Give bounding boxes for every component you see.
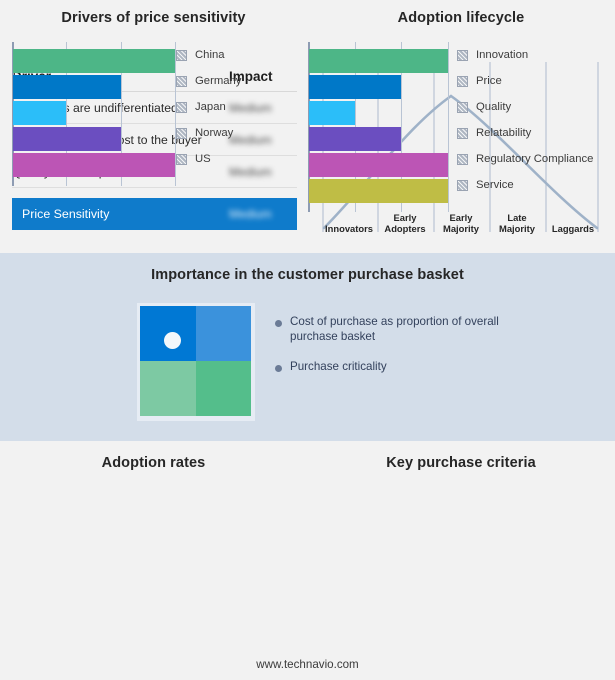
basket-panel-title: Importance in the customer purchase bask…: [0, 267, 615, 283]
legend-item-label: Cost of purchase as proportion of overal…: [290, 315, 540, 344]
driver-label: Price Sensitivity: [22, 207, 229, 221]
legend-item[interactable]: Price: [457, 68, 593, 94]
legend-item[interactable]: Quality: [457, 94, 593, 120]
legend-item[interactable]: China: [176, 42, 241, 68]
adoption-rates-panel: Adoption rates: [0, 441, 307, 680]
bar-price[interactable]: [309, 75, 401, 99]
bar-japan[interactable]: [13, 101, 66, 125]
drivers-panel-title: Drivers of price sensitivity: [0, 10, 307, 26]
legend-item-label: Purchase criticality: [290, 360, 387, 375]
legend-item-label: Service: [476, 179, 514, 191]
legend-swatch-icon: [457, 154, 468, 165]
key-purchase-criteria-title: Key purchase criteria: [307, 455, 615, 471]
bar-row: [12, 101, 175, 125]
key-purchase-criteria-plot: [308, 42, 448, 212]
bar-us[interactable]: [13, 153, 175, 177]
legend-item-label: Regulatory Compliance: [476, 153, 593, 165]
legend-item[interactable]: Innovation: [457, 42, 593, 68]
adoption-rates-chart: [12, 42, 175, 186]
bullet-dot-icon: [275, 320, 282, 327]
adoption-rates-legend: ChinaGermanyJapanNorwayUS: [176, 42, 241, 172]
legend-item-label: Germany: [195, 75, 241, 87]
adoption-rates-plot: [12, 42, 175, 186]
bar-row: [12, 75, 175, 99]
legend-item[interactable]: US: [176, 146, 241, 172]
legend-item-label: Innovation: [476, 49, 528, 61]
quadrant-bottom-right[interactable]: [196, 361, 252, 416]
impact-redacted-text: Medium: [229, 207, 272, 221]
key-purchase-criteria-chart: [308, 42, 448, 212]
quadrant-matrix-frame: [137, 303, 255, 421]
basket-legend: Cost of purchase as proportion of overal…: [275, 315, 595, 391]
impact-value: Medium: [229, 207, 289, 221]
legend-swatch-icon: [457, 76, 468, 87]
infographic-page: Drivers of price sensitivity Driver Impa…: [0, 0, 615, 680]
legend-item[interactable]: Japan: [176, 94, 241, 120]
legend-swatch-icon: [457, 128, 468, 139]
bar-norway[interactable]: [13, 127, 121, 151]
quadrant-bottom-left[interactable]: [140, 361, 196, 416]
legend-swatch-icon: [457, 50, 468, 61]
legend-swatch-icon: [457, 102, 468, 113]
legend-item-label: Japan: [195, 101, 226, 113]
footer-url: www.technavio.com: [0, 658, 615, 671]
bar-row: [308, 153, 448, 177]
legend-swatch-icon: [176, 154, 187, 165]
legend-item[interactable]: Regulatory Compliance: [457, 146, 593, 172]
bar-relatability[interactable]: [309, 127, 401, 151]
bar-china[interactable]: [13, 49, 175, 73]
bar-row: [12, 127, 175, 151]
bar-row: [12, 49, 175, 73]
legend-item-label: Quality: [476, 101, 511, 113]
legend-item[interactable]: Norway: [176, 120, 241, 146]
bar-regulatory-compliance[interactable]: [309, 153, 448, 177]
legend-item[interactable]: Service: [457, 172, 593, 198]
key-purchase-criteria-legend: InnovationPriceQualityRelatabilityRegula…: [457, 42, 593, 198]
legend-item-label: China: [195, 49, 225, 61]
legend-swatch-icon: [176, 128, 187, 139]
chart-gridline: [448, 42, 449, 212]
bar-service[interactable]: [309, 179, 448, 203]
bar-row: [12, 153, 175, 177]
table-row-highlighted[interactable]: Price Sensitivity Medium: [12, 198, 297, 230]
legend-swatch-icon: [176, 76, 187, 87]
quadrant-top-right[interactable]: [196, 306, 252, 361]
bar-row: [308, 127, 448, 151]
legend-swatch-icon: [176, 102, 187, 113]
bar-row: [308, 179, 448, 203]
bar-row: [308, 101, 448, 125]
quadrant-matrix[interactable]: [140, 306, 251, 416]
bar-germany[interactable]: [13, 75, 121, 99]
adoption-rates-title: Adoption rates: [0, 455, 307, 471]
purchase-basket-panel: Importance in the customer purchase bask…: [0, 253, 615, 441]
bar-row: [308, 49, 448, 73]
legend-item-label: Norway: [195, 127, 233, 139]
legend-item[interactable]: Relatability: [457, 120, 593, 146]
legend-item-label: Price: [476, 75, 502, 87]
legend-item-label: US: [195, 153, 211, 165]
legend-item: Purchase criticality: [275, 360, 595, 375]
bar-innovation[interactable]: [309, 49, 448, 73]
key-purchase-criteria-panel: Key purchase criteria: [307, 441, 615, 680]
legend-swatch-icon: [457, 180, 468, 191]
position-marker-dot: [164, 332, 181, 349]
bullet-dot-icon: [275, 365, 282, 372]
bar-quality[interactable]: [309, 101, 355, 125]
bar-row: [308, 75, 448, 99]
lifecycle-panel-title: Adoption lifecycle: [307, 10, 615, 26]
legend-item-label: Relatability: [476, 127, 531, 139]
legend-item: Cost of purchase as proportion of overal…: [275, 315, 595, 344]
legend-item[interactable]: Germany: [176, 68, 241, 94]
legend-swatch-icon: [176, 50, 187, 61]
